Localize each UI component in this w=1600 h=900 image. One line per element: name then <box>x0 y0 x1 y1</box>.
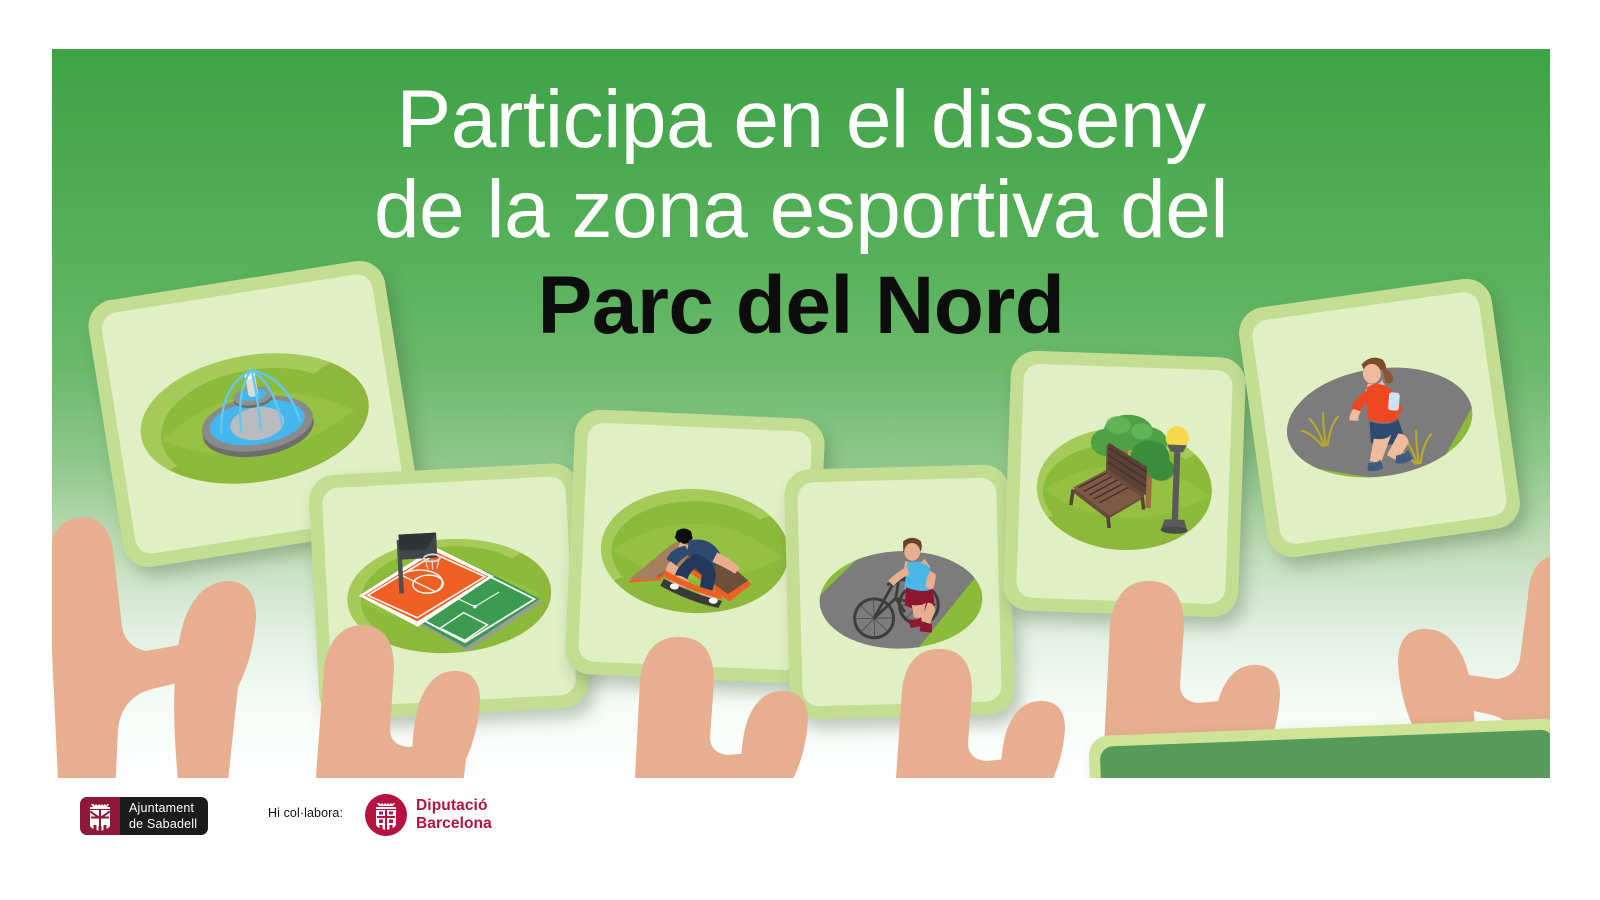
sabadell-line-1: Ajuntament <box>129 800 197 816</box>
diba-crest-icon <box>365 794 407 836</box>
banner: Participa en el disseny de la zona espor… <box>52 49 1550 778</box>
collaborates-label: Hi col·labora: <box>268 806 343 820</box>
hand-holding-card-2 <box>292 549 522 778</box>
cta-line-1: Fes la teva <box>1189 773 1468 778</box>
poster-canvas: Participa en el disseny de la zona espor… <box>0 0 1600 900</box>
diba-wordmark: Diputació Barcelona <box>416 797 492 834</box>
diba-line-2: Barcelona <box>416 815 492 833</box>
headline-line-1: Participa en el disseny <box>52 75 1550 165</box>
sabadell-crest-icon <box>80 797 120 835</box>
logo-ajuntament-sabadell[interactable]: Ajuntament de Sabadell <box>80 797 208 835</box>
hand-holding-card-4 <box>862 589 1092 778</box>
headline-line-2: de la zona esportiva del <box>52 165 1550 255</box>
logo-diputacio-barcelona[interactable]: Diputació Barcelona <box>365 794 492 836</box>
hand-holding-card-3 <box>592 569 832 778</box>
sabadell-line-2: de Sabadell <box>129 816 197 832</box>
diba-line-1: Diputació <box>416 797 492 815</box>
hand-holding-card-1 <box>52 421 328 778</box>
footer-logos: Ajuntament de Sabadell Hi col·labora: <box>0 790 1600 850</box>
sabadell-wordmark: Ajuntament de Sabadell <box>120 797 208 835</box>
call-to-action-inner: Fes la teva aportació! <box>1100 729 1550 778</box>
